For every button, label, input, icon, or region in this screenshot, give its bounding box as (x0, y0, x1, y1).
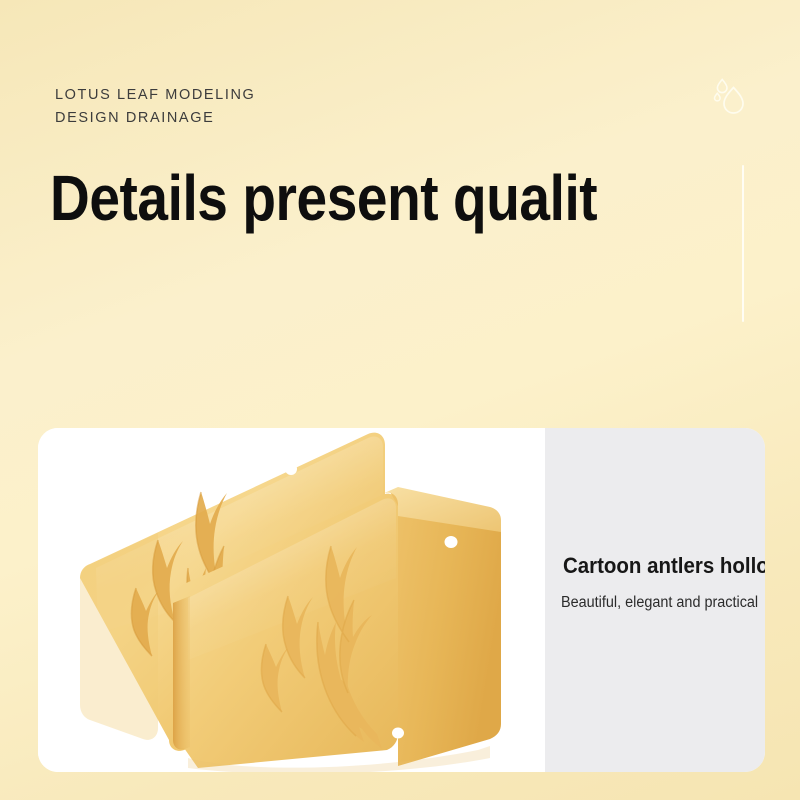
product-info-panel: Cartoon antlers hollow Beautiful, elegan… (545, 428, 765, 772)
water-droplet-icon (706, 74, 752, 120)
eyebrow-text: LOTUS LEAF MODELING DESIGN DRAINAGE (55, 84, 255, 130)
feature-subtitle: Beautiful, elegant and practical (561, 594, 758, 612)
eyebrow-line-2: DESIGN DRAINAGE (55, 107, 255, 130)
eyebrow-line-1: LOTUS LEAF MODELING (55, 84, 255, 107)
page-title: Details present qualit (50, 160, 597, 236)
product-promo-page: LOTUS LEAF MODELING DESIGN DRAINAGE Deta… (0, 0, 800, 800)
vertical-accent-line (742, 165, 744, 322)
product-feature-card: Cartoon antlers hollow Beautiful, elegan… (38, 428, 765, 772)
product-photo (38, 428, 545, 772)
feature-title: Cartoon antlers hollow (563, 553, 765, 579)
